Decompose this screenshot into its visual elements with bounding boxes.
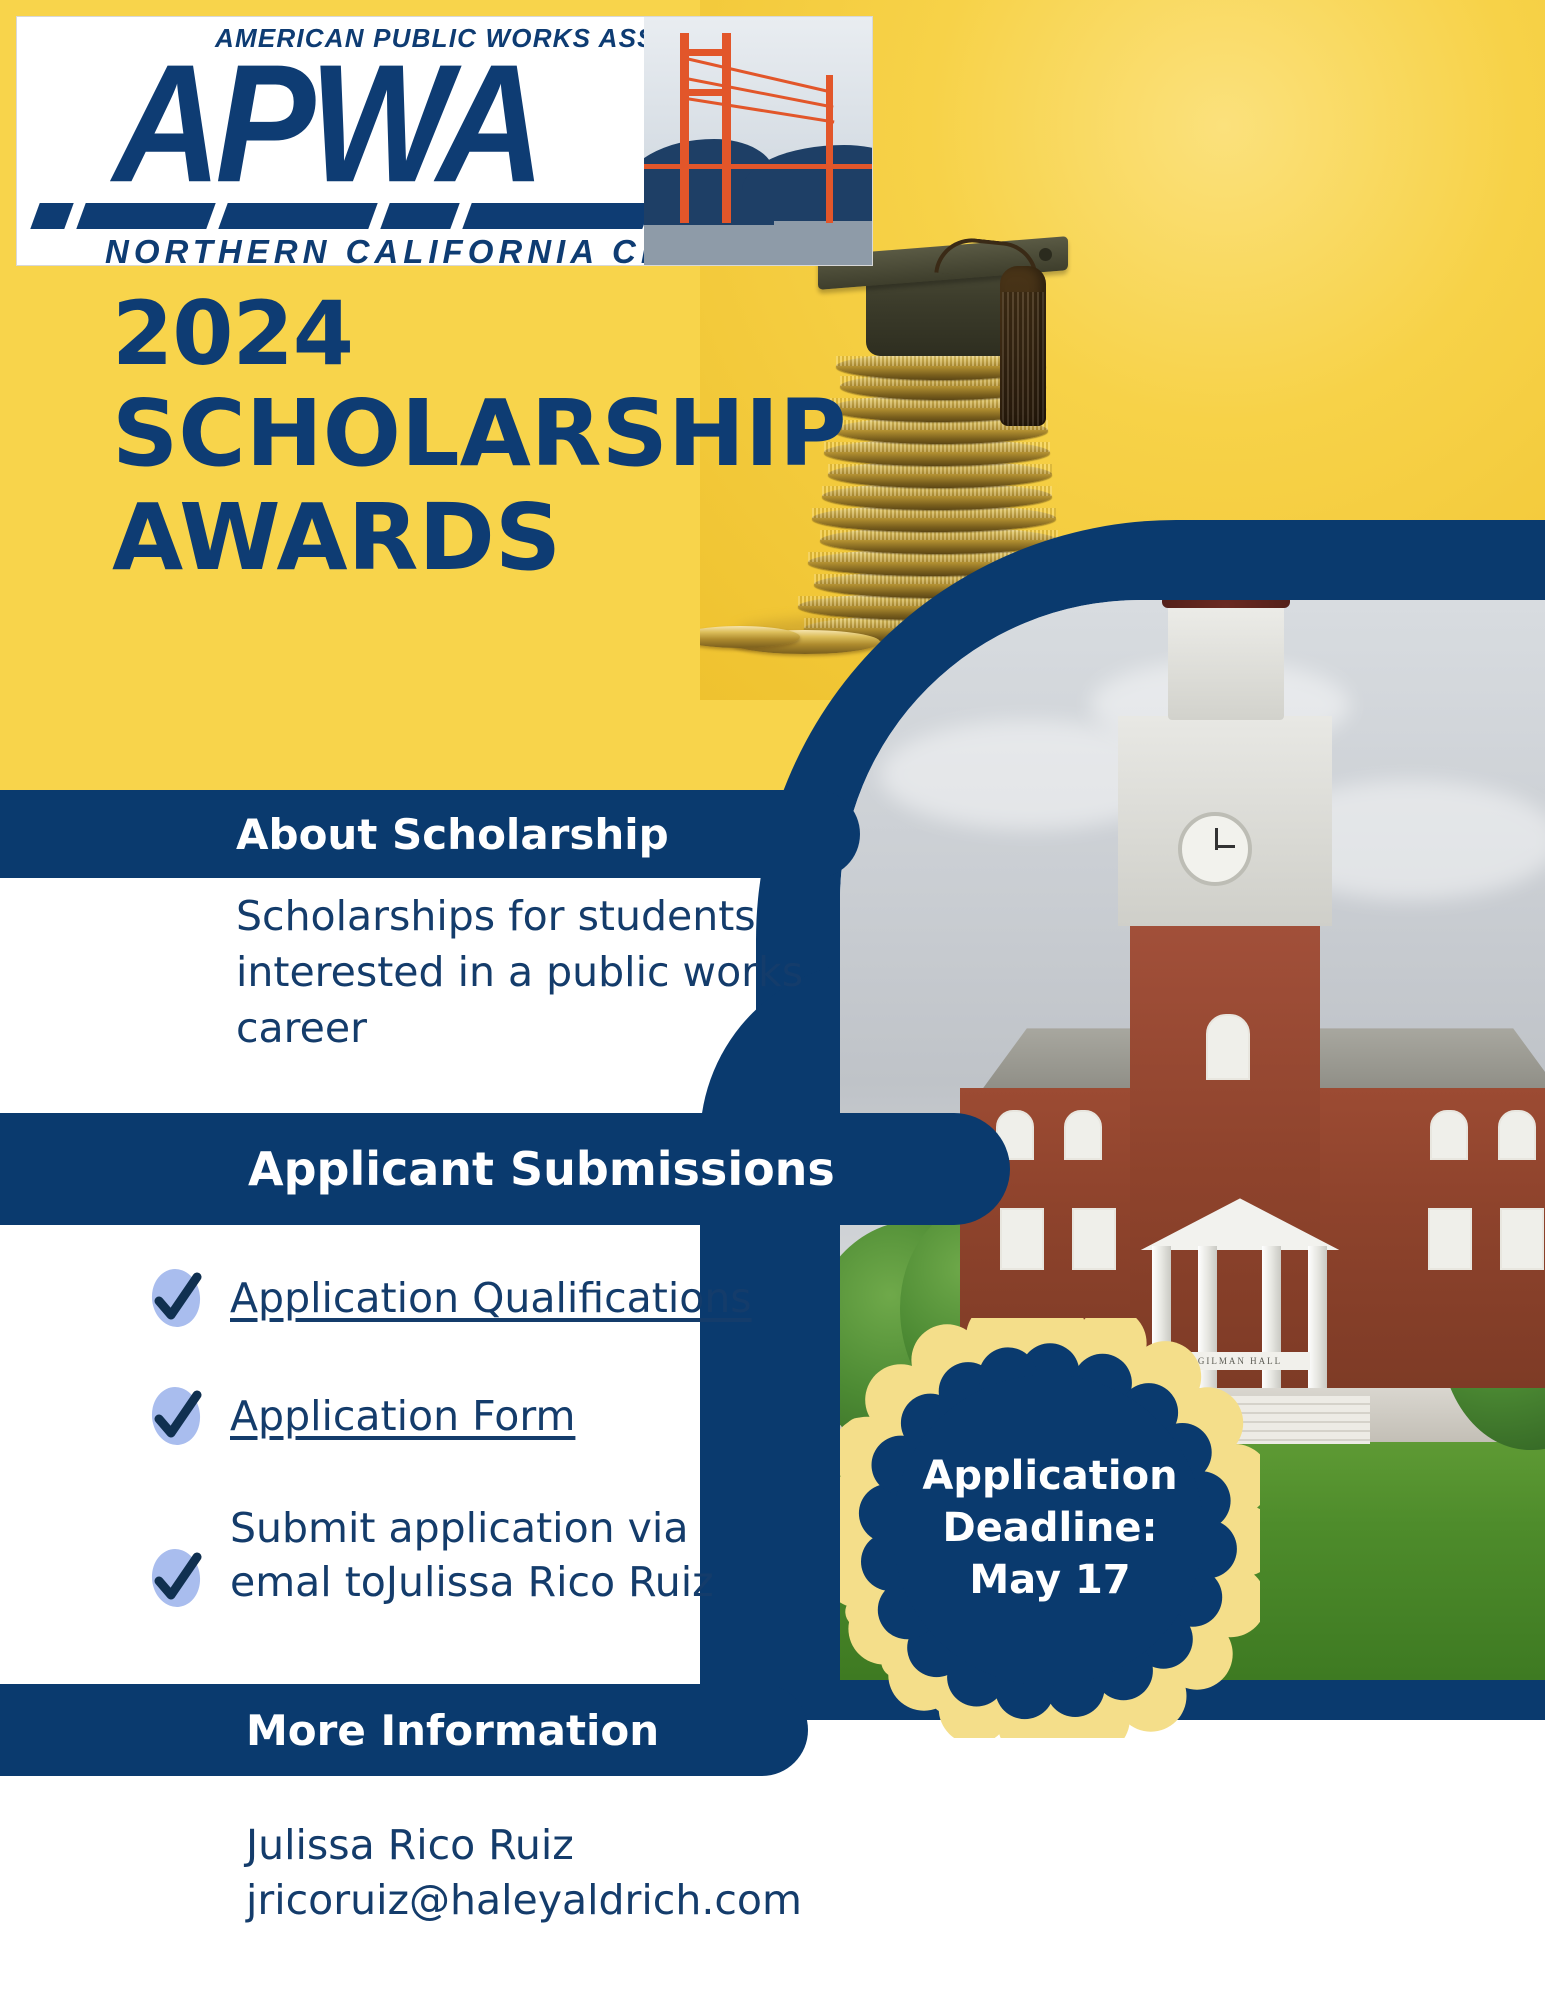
about-scholarship-body: Scholarships for students interested in … bbox=[236, 888, 836, 1056]
logo-stripe-bars bbox=[35, 203, 647, 229]
scholarship-flyer: GILMAN HALL AMERICAN PUBLIC WORKS ASSOCI… bbox=[0, 0, 1545, 2000]
contact-block: Julissa Rico Ruiz jricoruiz@haleyaldrich… bbox=[246, 1818, 1146, 1928]
title-line1: SCHOLARSHIP bbox=[112, 382, 932, 486]
deadline-line-2: Deadline: bbox=[943, 1502, 1158, 1554]
application-deadline-badge: Application Deadline: May 17 bbox=[840, 1318, 1260, 1738]
applicant-submissions-checklist: Application Qualifications Application F… bbox=[148, 1265, 868, 1661]
submit-instructions-text: Submit application via emal toJulissa Ri… bbox=[230, 1501, 790, 1609]
link-application-qualifications[interactable]: Application Qualifications bbox=[230, 1271, 752, 1325]
clock-face bbox=[1178, 812, 1252, 886]
link-application-form[interactable]: Application Form bbox=[230, 1389, 575, 1443]
section-header-about-label: About Scholarship bbox=[236, 810, 669, 859]
section-header-more-label: More Information bbox=[246, 1706, 659, 1755]
section-header-applicant-submissions: Applicant Submissions bbox=[0, 1113, 1010, 1225]
list-item[interactable]: Application Form bbox=[148, 1383, 868, 1449]
page-title: 2024 SCHOLARSHIP AWARDS bbox=[112, 286, 932, 590]
section-header-about-scholarship: About Scholarship bbox=[0, 790, 860, 878]
golden-gate-bridge-icon bbox=[644, 17, 872, 265]
section-header-more-information: More Information bbox=[0, 1684, 808, 1776]
checkmark-icon bbox=[148, 1547, 204, 1609]
deadline-line-3: May 17 bbox=[969, 1554, 1130, 1606]
deadline-badge-text: Application Deadline: May 17 bbox=[840, 1318, 1260, 1738]
contact-email[interactable]: jricoruiz@haleyaldrich.com bbox=[246, 1873, 1146, 1928]
logo-acronym: APWA bbox=[113, 39, 539, 207]
checkmark-icon bbox=[148, 1385, 204, 1447]
contact-name: Julissa Rico Ruiz bbox=[246, 1818, 1146, 1873]
section-header-applicant-label: Applicant Submissions bbox=[248, 1142, 835, 1196]
title-line2: AWARDS bbox=[112, 486, 932, 590]
title-year: 2024 bbox=[112, 286, 932, 382]
list-item[interactable]: Application Qualifications bbox=[148, 1265, 868, 1331]
checkmark-icon bbox=[148, 1267, 204, 1329]
list-item: Submit application via emal toJulissa Ri… bbox=[148, 1501, 868, 1609]
apwa-logo-card: AMERICAN PUBLIC WORKS ASSOCIATION APWA N… bbox=[16, 16, 873, 266]
deadline-line-1: Application bbox=[922, 1450, 1177, 1502]
